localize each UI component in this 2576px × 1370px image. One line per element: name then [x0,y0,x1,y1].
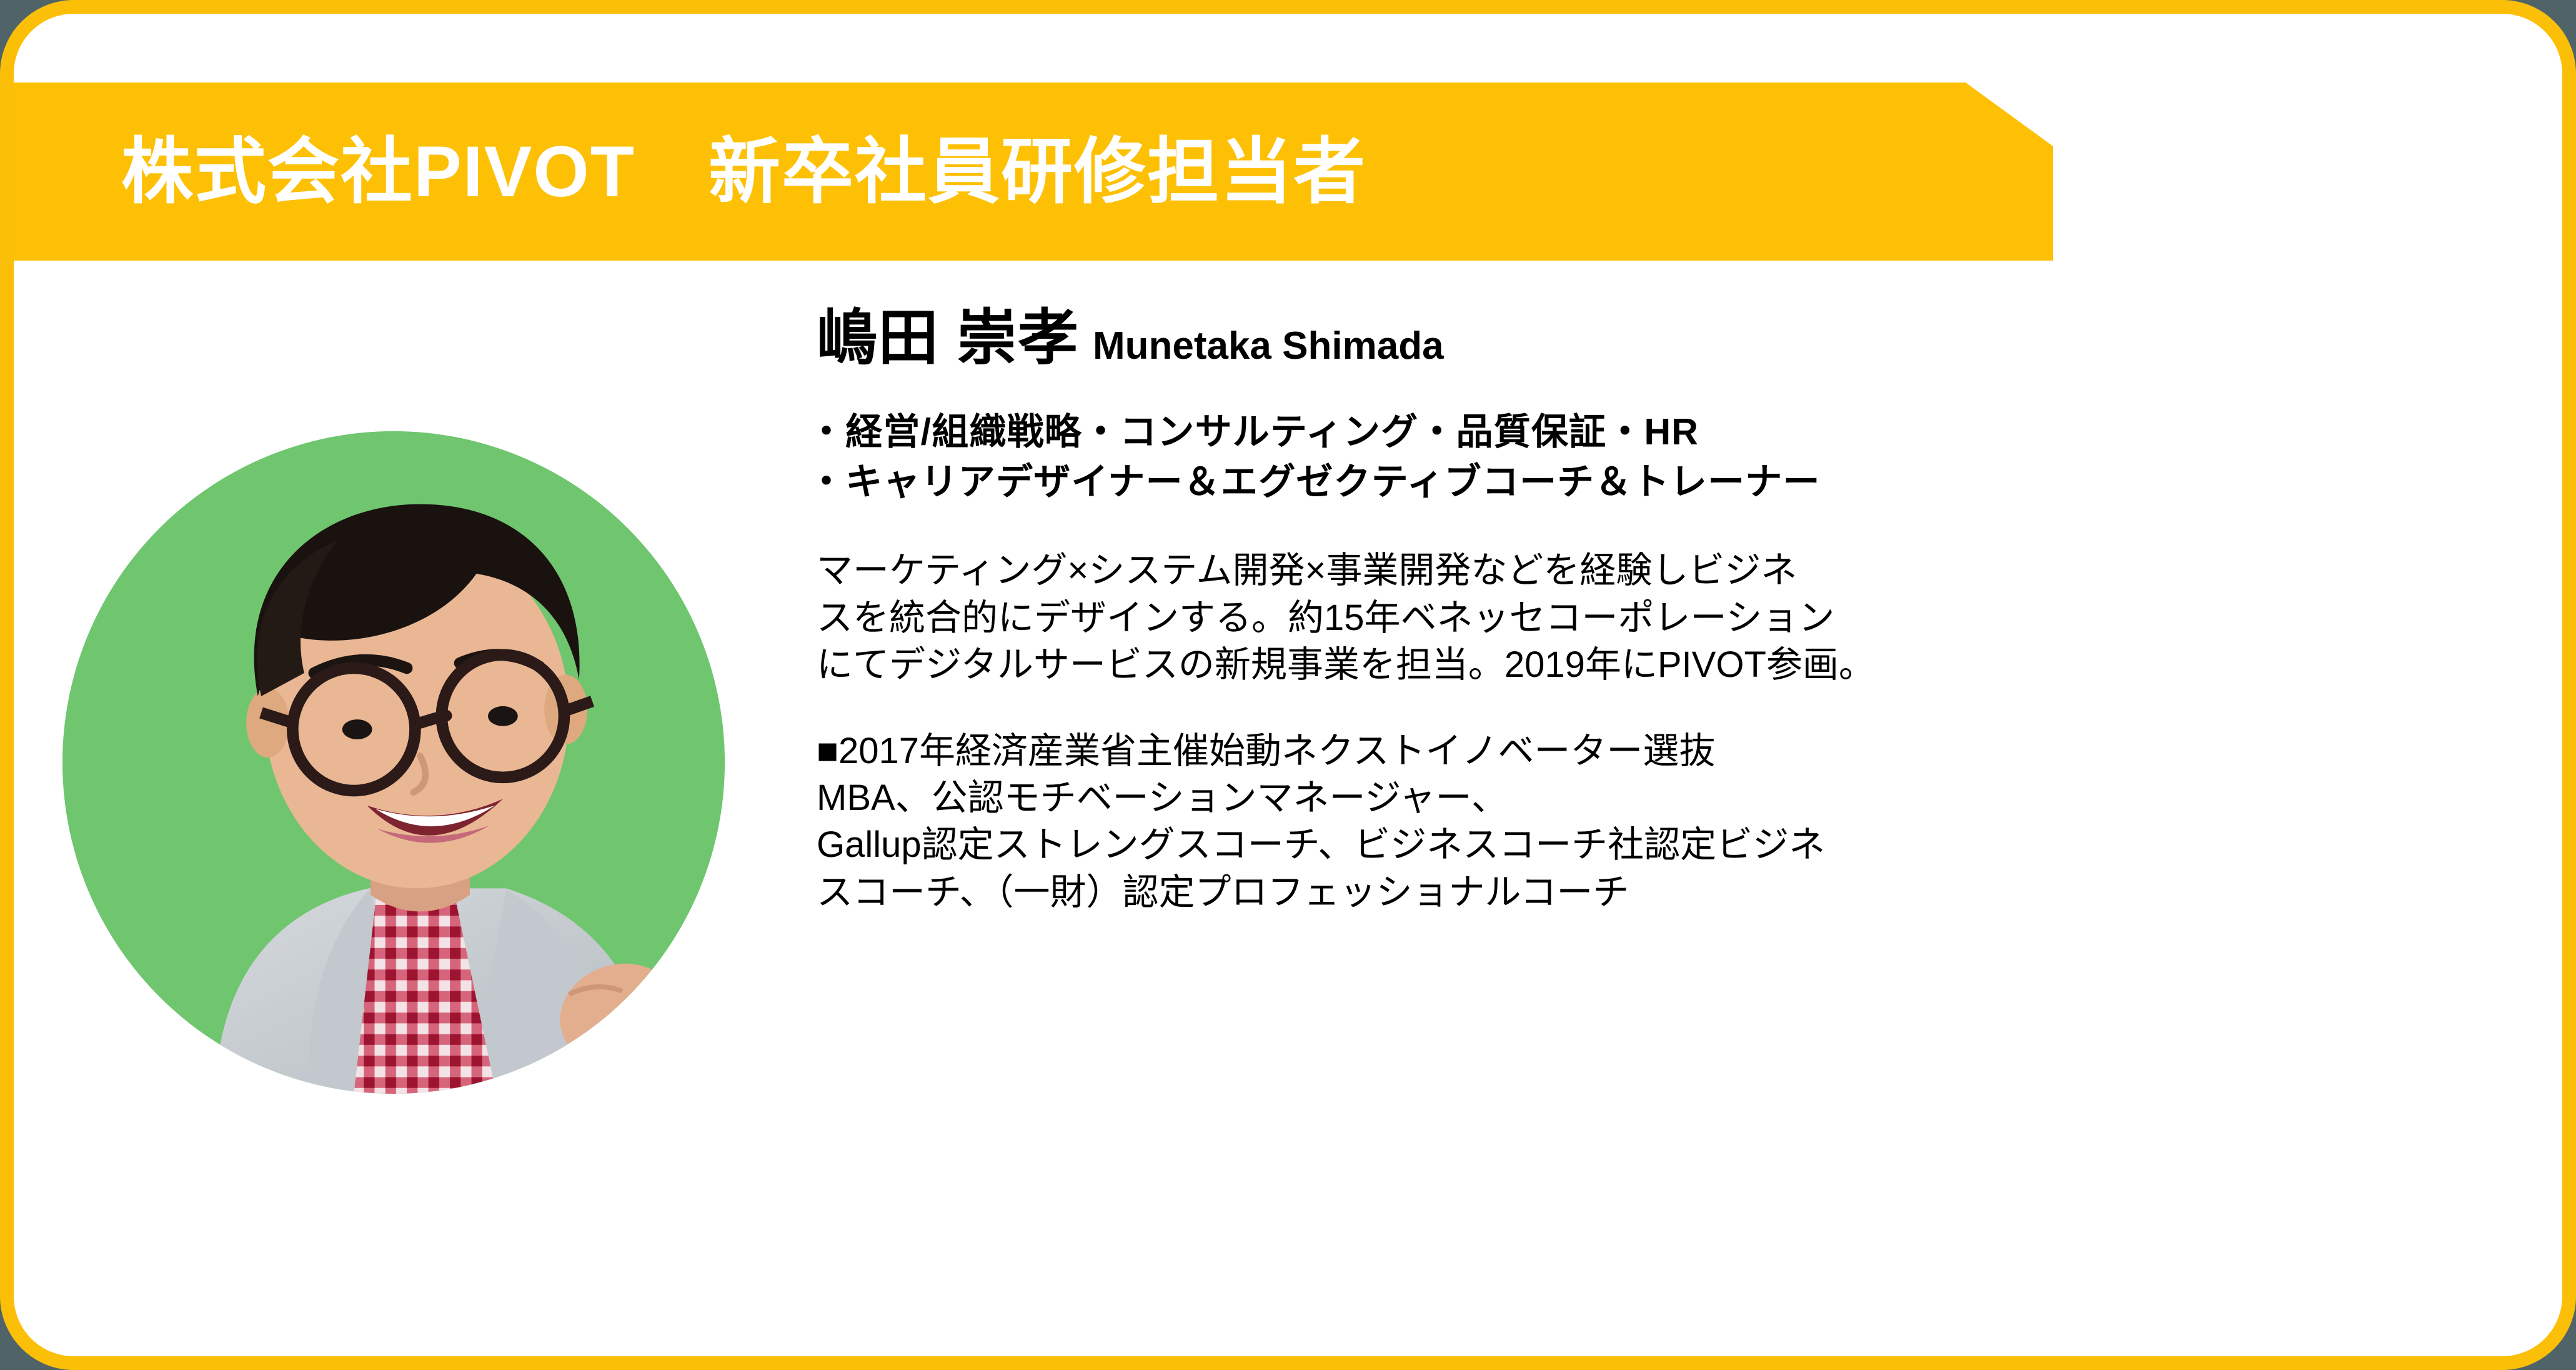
portrait-photo-container [62,431,725,1094]
specialty-line: ・キャリアデザイナー＆エグゼクティブコーチ＆トレーナー [808,457,2541,507]
person-name-ja: 嶋田 崇孝 [817,304,1079,372]
person-name: 嶋田 崇孝Munetaka Shimada [817,307,2541,368]
credential-line: Gallup認定ストレングスコーチ、ビジネスコーチ社認定ビジネ [817,821,2541,868]
credential-line: MBA、公認モチベーションマネージャー、 [817,774,2541,821]
profile-card: 株式会社PIVOT 新卒社員研修担当者 [0,0,2576,1370]
header-banner-title: 株式会社PIVOT 新卒社員研修担当者 [121,132,1366,211]
specialty-list: ・経営/組織戦略・コンサルティング・品質保証・HR ・キャリアデザイナー＆エグゼ… [808,407,2541,507]
bio-line: にてデジタルサービスの新規事業を担当。2019年にPIVOT参画。 [817,641,2541,688]
profile-text-column: 嶋田 崇孝Munetaka Shimada ・経営/組織戦略・コンサルティング・… [817,307,2541,916]
specialty-line: ・経営/組織戦略・コンサルティング・品質保証・HR [808,407,2541,457]
avatar [62,431,725,1094]
credentials-block: ■2017年経済産業省主催始動ネクストイノベーター選抜 MBA、公認モチベーショ… [817,727,2541,916]
credential-line: ■2017年経済産業省主催始動ネクストイノベーター選抜 [817,727,2541,774]
credential-line: スコーチ、（一財）認定プロフェッショナルコーチ [817,869,2541,916]
bio-paragraph: マーケティング×システム開発×事業開発などを経験しビジネ スを統合的にデザインす… [817,547,2541,688]
header-banner: 株式会社PIVOT 新卒社員研修担当者 [0,82,2053,261]
bio-line: マーケティング×システム開発×事業開発などを経験しビジネ [817,547,2541,594]
person-name-en: Munetaka Shimada [1079,324,1444,367]
bio-line: スを統合的にデザインする。約15年ベネッセコーポレーション [817,594,2541,641]
